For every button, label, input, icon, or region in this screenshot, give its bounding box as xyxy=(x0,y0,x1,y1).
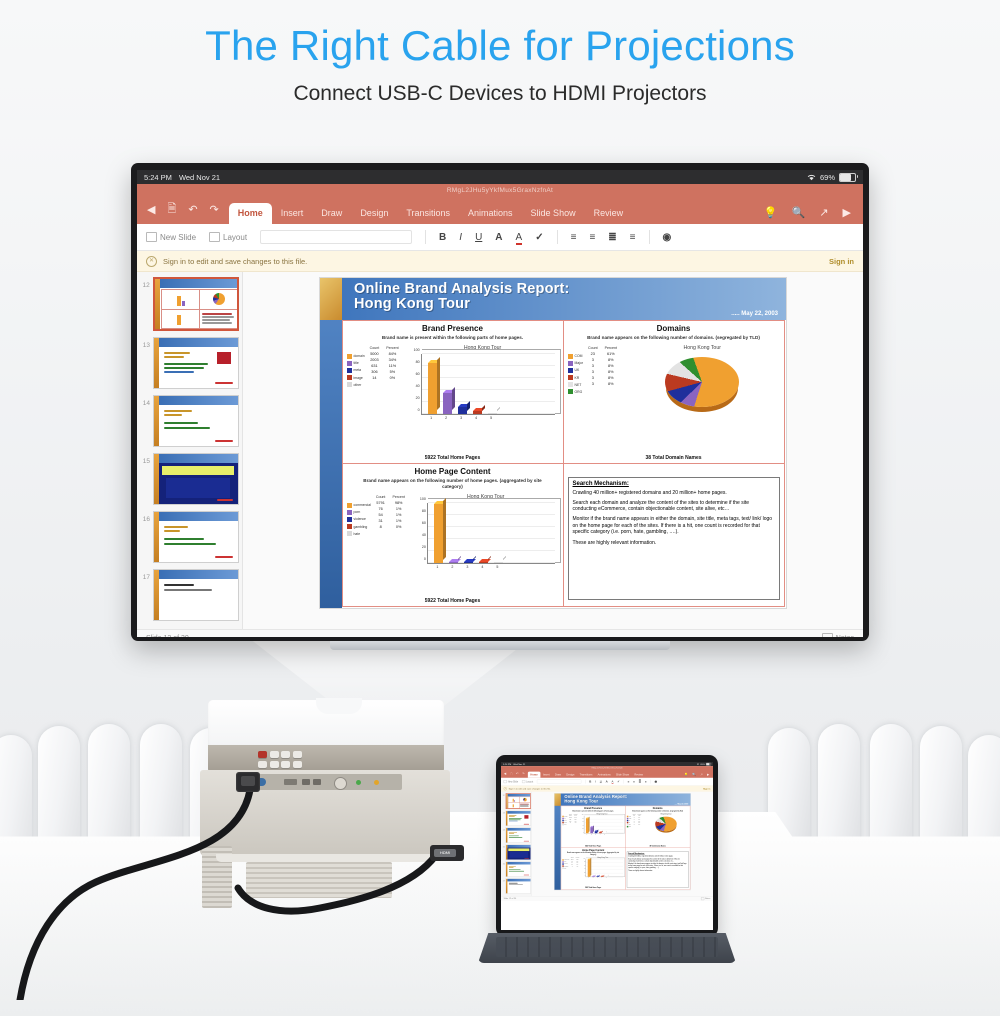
legend-item: gambling xyxy=(347,524,371,529)
slide-date: ..... May 22, 2003 xyxy=(731,311,778,317)
document-title: RMgL2JHu5yYkfMux5GraxNzfnAt xyxy=(137,187,863,194)
legend-item: image xyxy=(347,375,365,380)
battery-icon xyxy=(706,763,711,766)
share-icon[interactable]: ↗ xyxy=(819,206,828,219)
thumbnail-slide-17[interactable] xyxy=(506,879,531,894)
quadrant-caption: Brand name is present within the followi… xyxy=(343,333,563,341)
chart-table-hpc: CountPercent579198%761%541%311%80% xyxy=(570,856,581,878)
layout-icon xyxy=(209,232,220,242)
share-icon[interactable]: ↗ xyxy=(700,773,703,777)
legend-item: violence xyxy=(347,517,371,522)
thumbnail-slide-13[interactable] xyxy=(153,337,239,389)
bar xyxy=(479,562,488,563)
thumbnail-slide-16[interactable] xyxy=(153,511,239,563)
chart-table-bp: CountPercent500084%200334%63111%3065%140… xyxy=(368,344,404,420)
bar xyxy=(449,562,458,563)
back-icon[interactable]: ◀ xyxy=(147,203,155,216)
close-icon[interactable]: ✕ xyxy=(146,256,157,267)
x-axis-hpc: 12345 xyxy=(586,877,624,878)
quadrant-heading: Search Mechanism: xyxy=(573,481,775,487)
tv-stand xyxy=(330,641,670,650)
ppt-ribbon: RMgL2JHu5yYkfMux5GraxNzfnAt ◀ 🗎 ↶ ↷ Home… xyxy=(501,766,713,778)
plot-area-hpc: 020406080100 xyxy=(586,859,623,877)
thumb-number: 13 xyxy=(140,337,150,349)
chart-legend-bp: domaintitlemetaimageother xyxy=(562,813,567,835)
notes-icon xyxy=(822,633,833,637)
quadrant-home-page-content: Home Page Content Brand name appears on … xyxy=(561,847,626,889)
tablet-screen[interactable]: 5:24 PM Wed Nov 21 69% RMgL2JHu5yYkfMux5… xyxy=(501,762,713,930)
y-axis-tick: 20 xyxy=(422,545,428,549)
divider xyxy=(649,230,650,244)
y-axis-tick: 60 xyxy=(416,372,422,376)
page-subtitle: Connect USB-C Devices to HDMI Projectors xyxy=(0,82,1000,106)
y-axis-tick: 20 xyxy=(416,396,422,400)
slide-canvas[interactable]: Online Brand Analysis Report: Hong Kong … xyxy=(532,792,713,896)
chart-domains: Hong Kong Tour xyxy=(643,813,688,834)
banner-message: Sign in to edit and save changes to this… xyxy=(509,787,551,790)
x-axis-tick: 1 xyxy=(427,416,436,420)
underline-button[interactable]: U xyxy=(600,780,602,783)
document-title: RMgL2JHu5yYkfMux5GraxNzfnAt xyxy=(501,767,713,769)
slide-quadrant-grid: Brand Presence Brand name is present wit… xyxy=(342,320,784,606)
thumbnail-slide-14[interactable] xyxy=(153,395,239,447)
x-axis-tick: 5 xyxy=(603,834,606,835)
numbered-list-icon[interactable]: ≡ xyxy=(589,232,595,243)
bulleted-list-icon[interactable]: ≡ xyxy=(571,232,577,243)
ppt-toolbar: New Slide Layout B I U A A ✓ ≡ ≡ ≣ ≡ ◉ xyxy=(137,224,863,251)
new-slide-button[interactable]: New Slide xyxy=(504,780,519,783)
legend-item: meta xyxy=(347,368,365,373)
legend-item: other xyxy=(347,382,365,387)
tab-animations[interactable]: Animations xyxy=(595,772,613,778)
thumb-number: 17 xyxy=(502,879,505,883)
tab-draw[interactable]: Draw xyxy=(552,772,563,778)
y-axis-tick: 100 xyxy=(420,497,428,501)
legend-item: ORG xyxy=(568,389,583,394)
redo-icon[interactable]: ↷ xyxy=(522,772,525,776)
slide-canvas[interactable]: Online Brand Analysis Report: Hong Kong … xyxy=(243,272,863,629)
close-icon[interactable]: ✕ xyxy=(504,787,507,790)
paragraph: Monitor if the brand name appears in eit… xyxy=(628,863,687,869)
file-icon[interactable]: 🗎 xyxy=(167,200,176,219)
pie-chart xyxy=(665,357,739,407)
thumb-number: 15 xyxy=(140,453,150,465)
thumb-number: 14 xyxy=(502,828,505,832)
x-axis-tick: 4 xyxy=(472,416,481,420)
highlighter-icon[interactable]: ✓ xyxy=(617,780,619,783)
tab-design[interactable]: Design xyxy=(564,772,577,778)
ios-status-bar: 5:24 PM Wed Nov 21 69% xyxy=(137,170,863,184)
thumb-number: 15 xyxy=(502,845,505,849)
slide-thumbnail-panel[interactable]: 12 13 xyxy=(501,792,532,896)
x-axis-tick: 1 xyxy=(586,834,589,835)
chart-title: Hong Kong Tour xyxy=(625,344,780,351)
x-axis-tick: 4 xyxy=(478,565,487,569)
quadrant-heading: Brand Presence xyxy=(343,321,563,333)
x-axis-tick: 2 xyxy=(448,565,457,569)
new-slide-button[interactable]: New Slide xyxy=(146,232,196,242)
quadrant-home-page-content: Home Page Content Brand name appears on … xyxy=(342,463,564,607)
status-led-icon xyxy=(374,780,379,785)
thumb-number: 14 xyxy=(140,395,150,407)
chart-legend-bp: domaintitlemetaimageother xyxy=(347,344,365,420)
indent-icon[interactable]: ≣ xyxy=(639,780,641,783)
notes-label: Notes xyxy=(836,635,854,638)
signin-link[interactable]: Sign in xyxy=(703,787,710,790)
x-axis-tick: 4 xyxy=(601,877,604,878)
file-icon[interactable]: 🗎 xyxy=(510,771,513,777)
current-slide[interactable]: Online Brand Analysis Report: Hong Kong … xyxy=(319,277,787,609)
list-item[interactable]: 16 xyxy=(502,862,531,877)
power-led-icon xyxy=(356,780,361,785)
x-axis-tick: 3 xyxy=(463,565,472,569)
play-icon[interactable]: ▶ xyxy=(843,206,851,219)
new-slide-label: New Slide xyxy=(508,780,519,783)
notes-button[interactable]: Notes xyxy=(701,897,710,900)
bar xyxy=(586,818,589,833)
bar xyxy=(599,832,602,833)
list-item[interactable]: 13 xyxy=(140,337,239,389)
bar xyxy=(473,411,482,414)
chart-brand-presence: Hong Kong Tour 020406080100 12345 xyxy=(407,344,559,420)
x-axis-tick: 2 xyxy=(590,834,593,835)
cable-connector-tablet: HDMI xyxy=(430,845,464,861)
chart-legend-dom: COMMajorUKKRNETORG xyxy=(627,813,632,834)
notes-label: Notes xyxy=(705,898,710,900)
quadrant-heading: Domains xyxy=(564,321,784,333)
list-item[interactable]: 14 xyxy=(502,828,531,843)
thumb-number: 12 xyxy=(140,277,150,289)
search-icon[interactable]: 🔍 xyxy=(692,773,696,777)
x-axis-tick: 2 xyxy=(592,877,595,878)
layout-icon xyxy=(522,780,525,783)
tab-home[interactable]: Home xyxy=(528,772,541,778)
tv-display: 5:24 PM Wed Nov 21 69% RMgL2JHu5yYkfMux5… xyxy=(131,163,869,641)
legend-item: KR xyxy=(568,375,583,380)
tab-insert[interactable]: Insert xyxy=(272,203,313,224)
paragraph: These are highly relevant information. xyxy=(573,540,775,547)
list-item[interactable]: 16 xyxy=(140,511,239,563)
tab-design[interactable]: Design xyxy=(351,203,397,224)
y-axis-tick: 0 xyxy=(418,408,422,412)
tab-animations[interactable]: Animations xyxy=(459,203,522,224)
tab-transitions[interactable]: Transitions xyxy=(397,203,459,224)
legend-item: domain xyxy=(347,354,365,359)
quadrant-domains: Domains Brand name appears on the follow… xyxy=(625,806,690,848)
x-axis-bp: 12345 xyxy=(421,416,559,420)
ppt-ribbon: RMgL2JHu5yYkfMux5GraxNzfnAt ◀ 🗎 ↶ ↷ Home… xyxy=(137,184,863,224)
divider xyxy=(557,230,558,244)
cable-connector-projector xyxy=(236,772,260,792)
play-icon[interactable]: ▶ xyxy=(707,773,709,777)
align-icon[interactable]: ≡ xyxy=(630,232,636,243)
font-color-button[interactable]: A xyxy=(516,232,523,243)
italic-button[interactable]: I xyxy=(595,780,596,783)
usb-port-2 xyxy=(313,779,321,785)
thumbnail-slide-15[interactable] xyxy=(153,453,239,505)
slide-thumbnail-panel[interactable]: 12 13 xyxy=(137,272,243,629)
ppt-toolbar: New Slide Layout B I U A A ✓ ≡ ≡ ≣ ≡ ◉ xyxy=(501,778,713,786)
legend-item: UK xyxy=(568,368,583,373)
chart-home-page-content: Hong Kong Tour 020406080100 12345 xyxy=(582,856,625,878)
x-axis-tick: 1 xyxy=(433,565,442,569)
bars xyxy=(432,503,551,563)
slide-quadrant-grid: Brand Presence Brand name is present wit… xyxy=(561,806,690,890)
pie-chart xyxy=(655,816,677,831)
battery-percent: 69% xyxy=(700,763,704,766)
legend-item: title xyxy=(347,361,365,366)
chart-legend-hpc: commercialpornviolencegamblinghate xyxy=(562,856,569,878)
indent-icon[interactable]: ≣ xyxy=(608,232,616,243)
x-axis-tick: 3 xyxy=(596,877,599,878)
chart-legend-dom: COMMajorUKKRNETORG xyxy=(568,344,583,415)
thumbnail-slide-16[interactable] xyxy=(506,862,531,877)
ppt-status-bar: Slide 12 of 30 Notes xyxy=(501,896,713,901)
quadrant-footer: 5922 Total Home Pages xyxy=(343,598,563,604)
quadrant-brand-presence: Brand Presence Brand name is present wit… xyxy=(561,806,626,848)
slide-decoration-image xyxy=(320,278,342,320)
chart-table-dom: CountPercent2361%38%38%38%38%38% xyxy=(586,344,622,415)
layout-label: Layout xyxy=(526,780,533,783)
tablet-keyboard[interactable] xyxy=(478,933,736,963)
legend-item: hate xyxy=(347,531,371,536)
layout-label: Layout xyxy=(223,233,247,242)
thumbnail-slide-13[interactable] xyxy=(506,811,531,826)
shape-icon[interactable]: ◉ xyxy=(663,232,672,243)
banner-message: Sign in to edit and save changes to this… xyxy=(163,257,307,266)
status-date: Wed Nov 21 xyxy=(179,173,220,182)
paragraph: Search each domain and analyze the conte… xyxy=(628,858,687,862)
layout-button[interactable]: Layout xyxy=(522,780,533,783)
tab-review[interactable]: Review xyxy=(632,772,646,778)
y-axis-tick: 40 xyxy=(422,533,428,537)
notes-icon xyxy=(701,897,704,900)
bars xyxy=(585,816,621,834)
thumb-number: 17 xyxy=(140,569,150,581)
wifi-icon xyxy=(697,763,700,765)
x-axis-tick: 5 xyxy=(487,416,496,420)
hdmi-port xyxy=(284,779,297,785)
legend-item: COM xyxy=(568,354,583,359)
legend-item: Major xyxy=(568,361,583,366)
legend-item: porn xyxy=(347,510,371,515)
italic-button[interactable]: I xyxy=(459,232,462,243)
wifi-icon xyxy=(807,174,816,181)
tablet-device: 5:24 PM Wed Nov 21 69% RMgL2JHu5yYkfMux5… xyxy=(496,755,718,955)
font-color-button[interactable]: A xyxy=(612,780,614,783)
projector-port-panel xyxy=(240,774,402,790)
back-icon[interactable]: ◀ xyxy=(504,772,506,776)
quadrant-heading: Search Mechanism: xyxy=(628,853,687,855)
lightbulb-icon[interactable]: 💡 xyxy=(684,773,688,777)
new-slide-icon xyxy=(146,232,157,242)
lightbulb-icon[interactable]: 💡 xyxy=(764,206,778,219)
bars xyxy=(587,859,622,877)
slide-title-line2: Hong Kong Tour xyxy=(564,799,598,804)
shape-icon[interactable]: ◉ xyxy=(654,780,657,783)
usb-port xyxy=(302,779,310,785)
legend-item: hate xyxy=(562,867,569,868)
search-mechanism-panel: Search Mechanism: Crawling 40 million+ r… xyxy=(627,851,689,887)
projector-lens xyxy=(316,698,362,714)
ppt-status-bar: Slide 12 of 30 Notes xyxy=(137,629,863,637)
x-axis-tick: 5 xyxy=(605,877,608,878)
x-axis-hpc: 12345 xyxy=(427,565,559,569)
bar xyxy=(488,413,497,414)
tab-insert[interactable]: Insert xyxy=(540,772,552,778)
new-slide-icon xyxy=(504,780,507,783)
bar xyxy=(588,859,591,876)
font-size-button[interactable]: A xyxy=(495,232,502,243)
y-axis-tick: 40 xyxy=(416,384,422,388)
thumb-number: 12 xyxy=(502,793,505,797)
signin-banner: ✕ Sign in to edit and save changes to th… xyxy=(137,251,863,272)
chart-legend-hpc: commercialpornviolencegamblinghate xyxy=(347,493,371,569)
quadrant-caption: Brand name appears on the following numb… xyxy=(343,476,563,490)
x-axis-tick: 4 xyxy=(599,834,602,835)
y-axis-tick: 60 xyxy=(422,521,428,525)
projector-buttons[interactable] xyxy=(258,751,302,768)
slide-header: Online Brand Analysis Report: Hong Kong … xyxy=(342,278,786,320)
font-field[interactable] xyxy=(537,780,581,784)
x-axis-bp: 12345 xyxy=(584,834,624,835)
battery-icon xyxy=(839,173,856,182)
tab-draw[interactable]: Draw xyxy=(312,203,351,224)
chart-table-hpc: CountPercent579198%761%541%311%80% xyxy=(374,493,410,569)
slide-title-line2: Hong Kong Tour xyxy=(354,296,470,312)
x-axis-tick: 2 xyxy=(442,416,451,420)
paragraph: Search each domain and analyze the conte… xyxy=(573,500,775,513)
chart-table-dom: CountPercent2361%38%38%38%38%38% xyxy=(632,813,643,834)
chart-domains: Hong Kong Tour xyxy=(625,344,780,415)
tab-review[interactable]: Review xyxy=(585,203,633,224)
quadrant-search-mechanism: Search Mechanism: Crawling 40 million+ r… xyxy=(625,847,690,889)
tab-slide-show[interactable]: Slide Show xyxy=(613,772,631,778)
list-item[interactable]: 12 xyxy=(502,793,531,809)
thumbnail-slide-14[interactable] xyxy=(506,828,531,843)
bold-button[interactable]: B xyxy=(439,232,446,243)
quadrant-search-mechanism: Search Mechanism: Crawling 40 million+ r… xyxy=(563,463,785,607)
x-axis-tick: 3 xyxy=(457,416,466,420)
legend-item: other xyxy=(562,824,567,825)
signin-link[interactable]: Sign in xyxy=(829,257,854,266)
notes-button[interactable]: Notes xyxy=(822,633,854,637)
x-axis-tick: 1 xyxy=(587,877,590,878)
quadrant-footer: 5922 Total Home Pages xyxy=(561,887,625,889)
quadrant-heading: Home Page Content xyxy=(343,464,563,476)
y-axis-tick: 80 xyxy=(416,360,422,364)
paragraph: Crawling 40 million+ registered domains … xyxy=(628,855,687,857)
quadrant-caption: Brand name appears on the following numb… xyxy=(564,333,784,341)
numbered-list-icon[interactable]: ≡ xyxy=(633,780,635,783)
font-size-button[interactable]: A xyxy=(606,780,608,783)
bar xyxy=(595,831,598,833)
bar xyxy=(443,393,452,413)
list-item[interactable]: 12 xyxy=(140,277,239,331)
thumb-number: 16 xyxy=(140,511,150,523)
x-axis-tick: 5 xyxy=(493,565,502,569)
search-icon[interactable]: 🔍 xyxy=(792,206,806,219)
current-slide[interactable]: Online Brand Analysis Report: Hong Kong … xyxy=(554,793,691,890)
align-icon[interactable]: ≡ xyxy=(645,780,647,783)
list-item[interactable]: 15 xyxy=(140,453,239,505)
paragraph: These are highly relevant information. xyxy=(628,870,687,872)
status-time: 5:24 PM xyxy=(503,763,511,766)
thumbnail-slide-12[interactable] xyxy=(153,277,239,331)
font-field[interactable] xyxy=(260,230,412,244)
y-axis-tick: 0 xyxy=(424,557,428,561)
plot-area-hpc: 020406080100 xyxy=(427,503,555,564)
highlighter-icon[interactable]: ✓ xyxy=(535,232,543,243)
thumbnail-slide-15[interactable] xyxy=(506,845,531,860)
bar xyxy=(590,827,593,833)
list-item[interactable]: 17 xyxy=(502,879,531,894)
y-axis-tick: 80 xyxy=(422,509,428,513)
slide-title-line1: Online Brand Analysis Report: xyxy=(354,281,570,297)
legend-item: commercial xyxy=(347,503,371,508)
bar xyxy=(458,407,467,414)
quadrant-caption: Brand name appears on the following numb… xyxy=(626,809,690,811)
legend-item: NET xyxy=(568,382,583,387)
tab-home[interactable]: Home xyxy=(229,203,272,224)
bar xyxy=(494,562,503,563)
bars xyxy=(426,354,551,414)
list-item[interactable]: 15 xyxy=(502,845,531,860)
battery-percent: 69% xyxy=(820,173,835,182)
chart-table-bp: CountPercent500084%200334%63111%3065%140… xyxy=(568,813,579,835)
bulleted-list-icon[interactable]: ≡ xyxy=(628,780,630,783)
chart-home-page-content: Hong Kong Tour 020406080100 12345 xyxy=(413,493,559,569)
chart-brand-presence: Hong Kong Tour 020406080100 12345 xyxy=(580,813,624,835)
paragraph: Monitor if the brand name appears in eit… xyxy=(573,516,775,536)
undo-icon[interactable]: ↶ xyxy=(188,203,197,216)
tab-transitions[interactable]: Transitions xyxy=(577,772,595,778)
search-mechanism-panel: Search Mechanism: Crawling 40 million+ r… xyxy=(568,477,780,600)
slide-header: Online Brand Analysis Report: Hong Kong … xyxy=(561,794,691,806)
thumb-number: 13 xyxy=(502,811,505,815)
thumb-number: 16 xyxy=(502,862,505,866)
slide-position: Slide 12 of 30 xyxy=(504,898,517,900)
quadrant-footer: 5922 Total Home Pages xyxy=(343,455,563,461)
legend-item: ORG xyxy=(627,826,632,827)
plot-area-bp: 020406080100 xyxy=(584,816,623,834)
thumbnail-slide-12[interactable] xyxy=(506,793,531,809)
bold-button[interactable]: B xyxy=(589,780,591,783)
undo-icon[interactable]: ↶ xyxy=(516,772,519,776)
rca-port xyxy=(334,777,347,790)
ribbon-tabs: Home Insert Draw Design Transitions Anim… xyxy=(229,203,632,224)
bar xyxy=(428,363,437,413)
bar xyxy=(434,504,443,563)
list-item[interactable]: 17 xyxy=(140,569,239,621)
underline-button[interactable]: U xyxy=(475,232,482,243)
hdmi-connector-label: HDMI xyxy=(434,849,456,857)
tab-slide-show[interactable]: Slide Show xyxy=(522,203,585,224)
plot-area-bp: 020406080100 xyxy=(421,354,555,415)
layout-button[interactable]: Layout xyxy=(209,232,247,242)
x-axis-tick: 3 xyxy=(594,834,597,835)
redo-icon[interactable]: ↷ xyxy=(210,203,219,216)
thumbnail-slide-17[interactable] xyxy=(153,569,239,621)
list-item[interactable]: 14 xyxy=(140,395,239,447)
divider xyxy=(425,230,426,244)
list-item[interactable]: 13 xyxy=(502,811,531,826)
tv-screen: 5:24 PM Wed Nov 21 69% RMgL2JHu5yYkfMux5… xyxy=(137,170,863,637)
quadrant-footer: 38 Total Domain Names xyxy=(564,455,784,461)
status-time: 5:24 PM xyxy=(144,173,172,182)
editor-area: 12 13 xyxy=(501,792,713,896)
paragraph: Crawling 40 million+ registered domains … xyxy=(573,490,775,497)
